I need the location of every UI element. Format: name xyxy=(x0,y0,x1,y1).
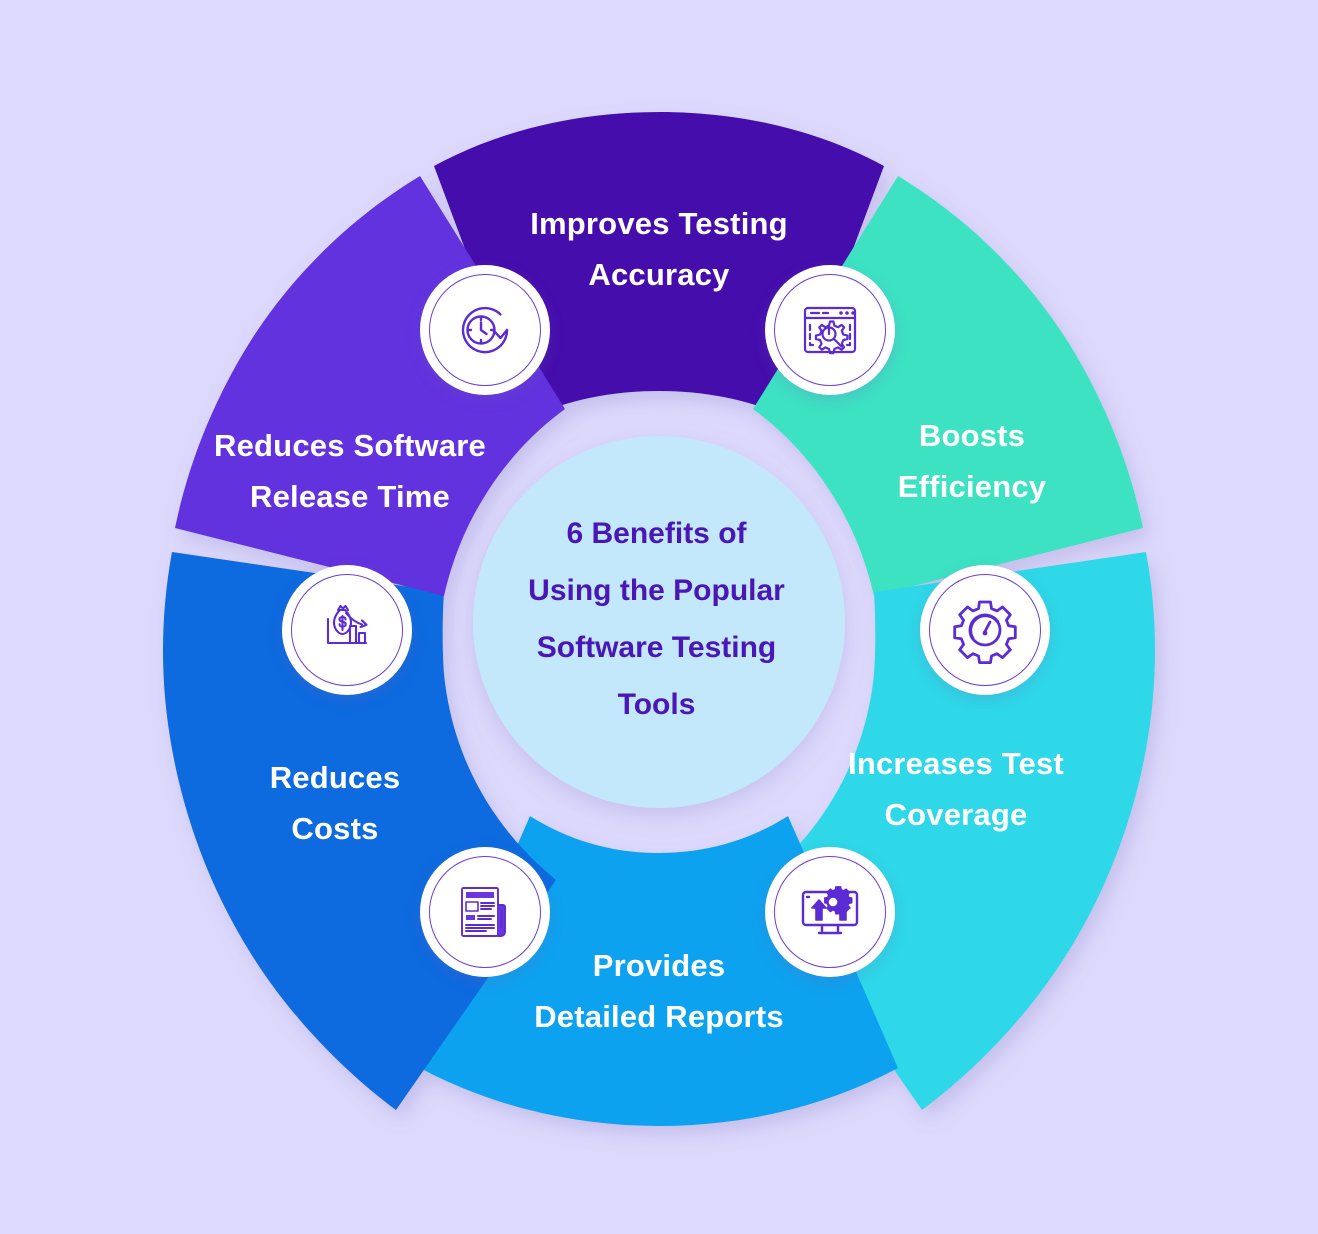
monitor-gear-upgrade-icon[interactable] xyxy=(765,847,895,977)
cost-reduction-chart-glyph xyxy=(310,593,384,667)
infographic-canvas: 6 Benefits of Using the Popular Software… xyxy=(0,0,1318,1234)
gear-speedometer-glyph xyxy=(948,593,1022,667)
gear-speedometer-icon[interactable] xyxy=(920,565,1050,695)
browser-gear-search-glyph xyxy=(793,293,867,367)
report-document-glyph xyxy=(448,875,522,949)
page-title: 6 Benefits of Using the Popular Software… xyxy=(479,505,834,733)
clock-refresh-icon[interactable] xyxy=(420,265,550,395)
cost-reduction-chart-icon[interactable] xyxy=(282,565,412,695)
browser-gear-search-icon[interactable] xyxy=(765,265,895,395)
clock-refresh-glyph xyxy=(448,293,522,367)
report-document-icon[interactable] xyxy=(420,847,550,977)
monitor-gear-upgrade-glyph xyxy=(793,875,867,949)
